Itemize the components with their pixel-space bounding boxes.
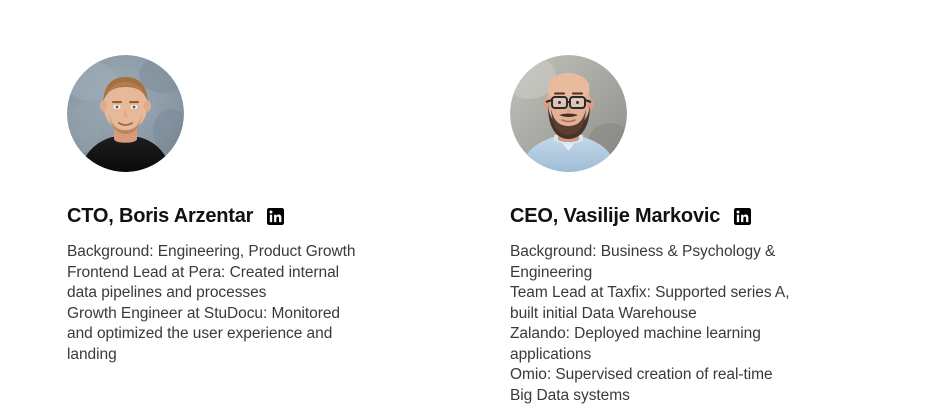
profile-heading: CTO, Boris Arzentar — [67, 204, 467, 228]
bio-line: and optimized the user experience and — [67, 324, 467, 345]
bio-line: landing — [67, 345, 467, 366]
bio-line: Zalando: Deployed machine learning — [510, 324, 910, 345]
linkedin-icon[interactable] — [267, 208, 284, 225]
avatar — [67, 55, 184, 172]
bio-line: built initial Data Warehouse — [510, 304, 910, 325]
profile-heading: CEO, Vasilije Markovic — [510, 204, 910, 228]
bio-line: Background: Engineering, Product Growth — [67, 242, 467, 263]
bio-line: Big Data systems — [510, 386, 910, 407]
bio-line: applications — [510, 345, 910, 366]
profile-card-cto: CTO, Boris Arzentar Background: Engineer… — [67, 0, 467, 365]
team-profiles-section: CTO, Boris Arzentar Background: Engineer… — [0, 0, 948, 412]
linkedin-icon[interactable] — [734, 208, 751, 225]
profile-name: CEO, Vasilije Markovic — [510, 204, 720, 228]
profile-card-ceo: CEO, Vasilije Markovic Background: Busin… — [510, 0, 910, 406]
profile-bio: Background: Engineering, Product Growth … — [67, 242, 467, 365]
bio-line: Team Lead at Taxfix: Supported series A, — [510, 283, 910, 304]
bio-line: Engineering — [510, 263, 910, 284]
bio-line: Background: Business & Psychology & — [510, 242, 910, 263]
bio-line: Growth Engineer at StuDocu: Monitored — [67, 304, 467, 325]
bio-line: Frontend Lead at Pera: Created internal — [67, 263, 467, 284]
profile-bio: Background: Business & Psychology & Engi… — [510, 242, 910, 406]
avatar — [510, 55, 627, 172]
bio-line: data pipelines and processes — [67, 283, 467, 304]
bio-line: Omio: Supervised creation of real-time — [510, 365, 910, 386]
profile-name: CTO, Boris Arzentar — [67, 204, 253, 228]
